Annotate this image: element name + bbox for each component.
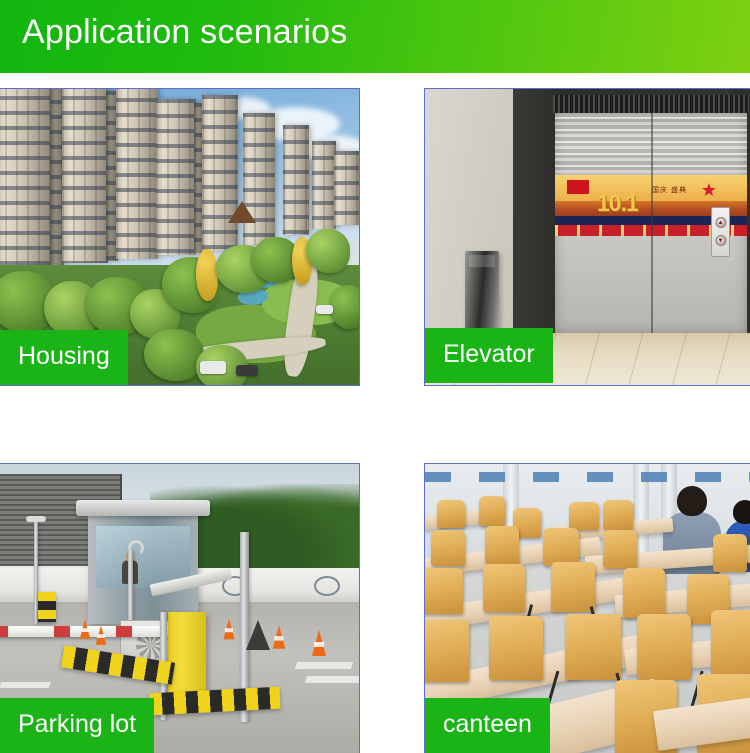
building-tower [156, 99, 196, 255]
trash-bin [465, 251, 499, 329]
wall-logo-icon [314, 576, 340, 596]
elevator-vent-grille [553, 95, 749, 113]
canteen-chair [603, 530, 637, 568]
canteen-chair [711, 610, 750, 678]
tree [196, 249, 218, 301]
star-icon: ★ [701, 181, 717, 199]
card-label-canteen: canteen [425, 698, 550, 753]
canteen-chair [425, 620, 469, 682]
canteen-chair [489, 616, 543, 680]
scenario-card-parking-lot[interactable]: Parking lot [0, 463, 360, 753]
canteen-chair [483, 564, 525, 612]
canteen-chair [431, 530, 465, 566]
scenario-card-housing[interactable]: Housing [0, 88, 360, 386]
canteen-chair [713, 534, 747, 572]
guard-booth [88, 512, 198, 624]
building-tower [312, 141, 336, 229]
building-tower [62, 89, 108, 263]
road-marking [295, 662, 354, 669]
call-button-down[interactable]: ▼ [715, 235, 726, 246]
down-arrow-icon: ▼ [718, 238, 724, 244]
pavilion-roof [228, 201, 256, 223]
canteen-chair [479, 496, 505, 526]
canteen-chair [623, 568, 665, 618]
scenario-card-elevator[interactable]: 国庆 盛典 ★ 10.1 ▲ ▼ Elevator [424, 88, 750, 386]
call-button-up[interactable]: ▲ [715, 217, 726, 228]
car [200, 361, 226, 374]
card-label-housing: Housing [0, 330, 128, 385]
canteen-chair [569, 502, 599, 530]
canteen-chair [437, 500, 465, 528]
scenario-card-canteen[interactable]: canteen [424, 463, 750, 753]
canteen-chair [425, 568, 463, 614]
elevator-call-panel[interactable]: ▲ ▼ [711, 207, 730, 257]
scenario-card-grid: Housing 国庆 盛典 ★ 10.1 [0, 0, 750, 750]
canteen-chair [603, 500, 633, 530]
traffic-cone [223, 619, 234, 640]
car [316, 305, 333, 314]
building-tower [202, 95, 238, 251]
building-tower [283, 125, 309, 235]
traffic-cone [96, 625, 107, 645]
card-label-parking-lot: Parking lot [0, 698, 154, 753]
building-tower [0, 89, 52, 267]
canteen-chair [543, 528, 579, 566]
canteen-chair [565, 614, 621, 680]
building-tower [243, 113, 275, 245]
door-reflection [555, 117, 747, 173]
traffic-cone [312, 630, 326, 656]
canteen-chair [551, 562, 595, 612]
road-marking [0, 682, 51, 688]
car [236, 365, 258, 376]
canteen-chair [485, 526, 519, 564]
poster-subtext: 国庆 盛典 [652, 185, 687, 195]
traffic-cone [273, 625, 286, 648]
tree [306, 229, 350, 273]
up-arrow-icon: ▲ [718, 220, 724, 226]
rubber-cone-base [246, 620, 270, 650]
poster-headline: 10.1 [597, 190, 638, 217]
traffic-cone [80, 619, 91, 639]
booth-roof [76, 500, 210, 516]
building-tower [334, 151, 359, 225]
housing-photo: Housing [0, 89, 359, 385]
light-fixture [26, 516, 46, 522]
flag-icon [567, 180, 589, 194]
tree [144, 329, 204, 381]
striped-curb [38, 592, 56, 622]
elevator-photo: 国庆 盛典 ★ 10.1 ▲ ▼ Elevator [425, 89, 750, 385]
canteen-photo: canteen [425, 464, 750, 753]
parking-lot-photo: Parking lot [0, 464, 359, 753]
canteen-chair [637, 614, 691, 680]
building-tower [116, 89, 158, 259]
road-marking [305, 676, 359, 683]
card-label-elevator: Elevator [425, 328, 553, 383]
